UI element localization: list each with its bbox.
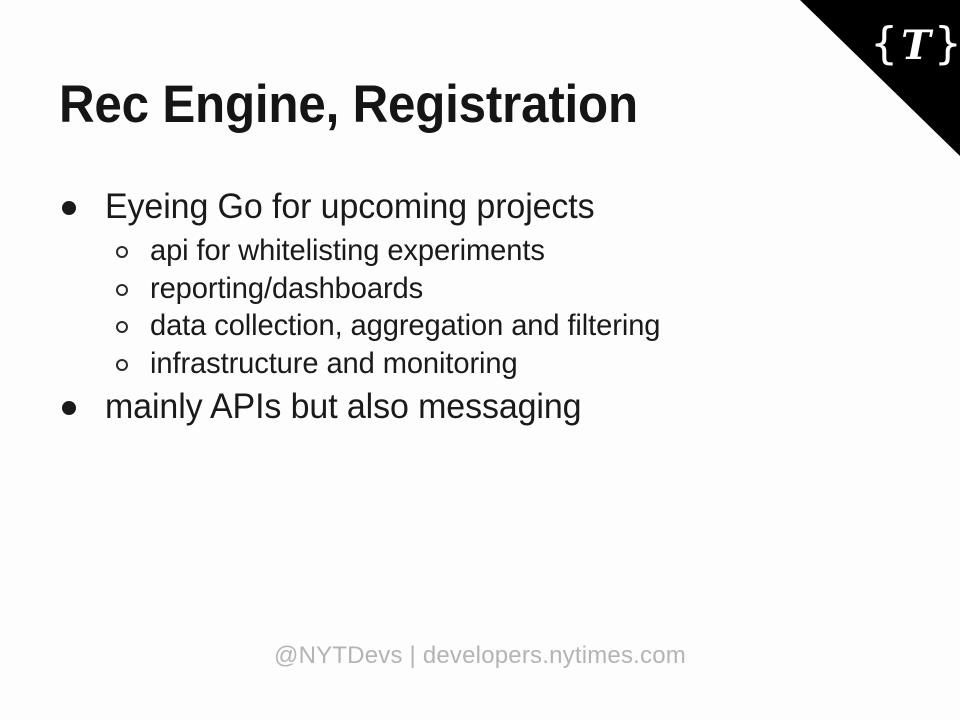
logo-gothic-t-icon: T <box>898 26 934 66</box>
list-item-label: Eyeing Go for upcoming projects <box>105 182 595 232</box>
list-item-label: reporting/dashboards <box>150 270 423 308</box>
filled-disc-bullet-icon <box>62 401 76 415</box>
logo-right-brace-icon: } <box>934 22 960 66</box>
slide-footer: @NYTDevs | developers.nytimes.com <box>0 642 960 670</box>
list-item-label: infrastructure and monitoring <box>150 345 518 383</box>
hollow-circle-bullet-icon <box>116 321 128 333</box>
list-item-label: data collection, aggregation and filteri… <box>150 307 660 345</box>
list-item: infrastructure and monitoring <box>0 345 900 383</box>
list-item: Eyeing Go for upcoming projects <box>0 182 900 232</box>
list-item: reporting/dashboards <box>0 270 900 308</box>
hollow-circle-bullet-icon <box>116 284 128 296</box>
bullet-list: Eyeing Go for upcoming projects api for … <box>0 182 900 432</box>
list-item: data collection, aggregation and filteri… <box>0 307 900 345</box>
hollow-circle-bullet-icon <box>116 359 128 371</box>
logo-left-brace-icon: { <box>870 22 898 66</box>
slide-title: Rec Engine, Registration <box>59 77 638 133</box>
presentation-slide: {T} Rec Engine, Registration Eyeing Go f… <box>0 0 960 720</box>
hollow-circle-bullet-icon <box>116 246 128 258</box>
filled-disc-bullet-icon <box>62 201 76 215</box>
list-item: mainly APIs but also messaging <box>0 382 900 432</box>
list-item-label: mainly APIs but also messaging <box>105 382 581 432</box>
list-item-label: api for whitelisting experiments <box>150 232 545 270</box>
nyt-developers-logo: {T} <box>800 0 960 156</box>
logo-mark: {T} <box>878 14 954 76</box>
list-item: api for whitelisting experiments <box>0 232 900 270</box>
